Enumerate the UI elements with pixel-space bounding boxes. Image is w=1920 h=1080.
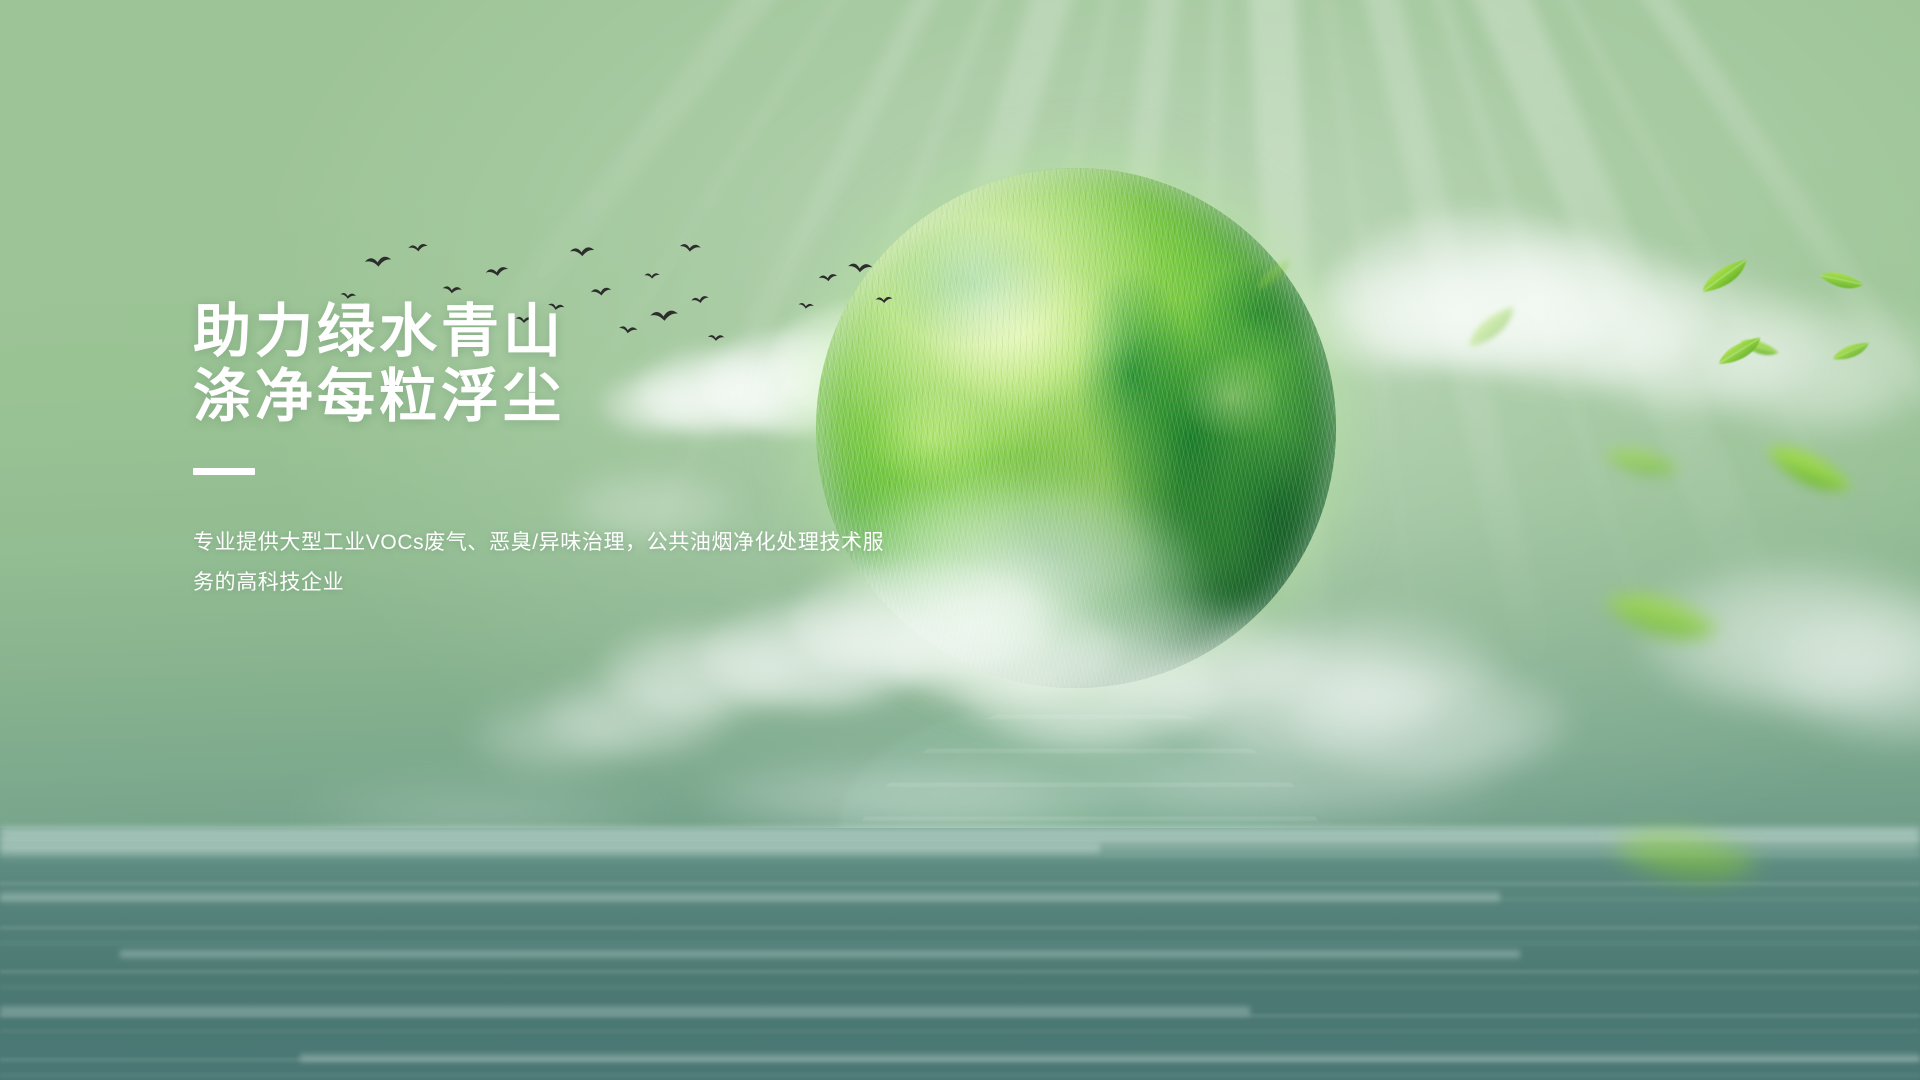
water-band (0, 1004, 1250, 1018)
headline-line-1: 助力绿水青山 (193, 300, 933, 365)
hero-description: 专业提供大型工业VOCs废气、恶臭/异味治理，公共油烟净化处理技术服务的高科技企… (193, 523, 893, 604)
hero-copy: 助力绿水青山 涤净每粒浮尘 专业提供大型工业VOCs废气、恶臭/异味治理，公共油… (193, 300, 933, 604)
headline-line-2: 涤净每粒浮尘 (193, 365, 933, 430)
water-band (300, 1052, 1920, 1064)
water-band (120, 948, 1520, 960)
title-divider (193, 468, 255, 475)
hero-banner: 助力绿水青山 涤净每粒浮尘 专业提供大型工业VOCs废气、恶臭/异味治理，公共油… (0, 0, 1920, 1080)
water-band (0, 840, 1100, 856)
water-surface (0, 828, 1920, 1080)
water-band (0, 890, 1500, 904)
page-title: 助力绿水青山 涤净每粒浮尘 (193, 300, 933, 430)
